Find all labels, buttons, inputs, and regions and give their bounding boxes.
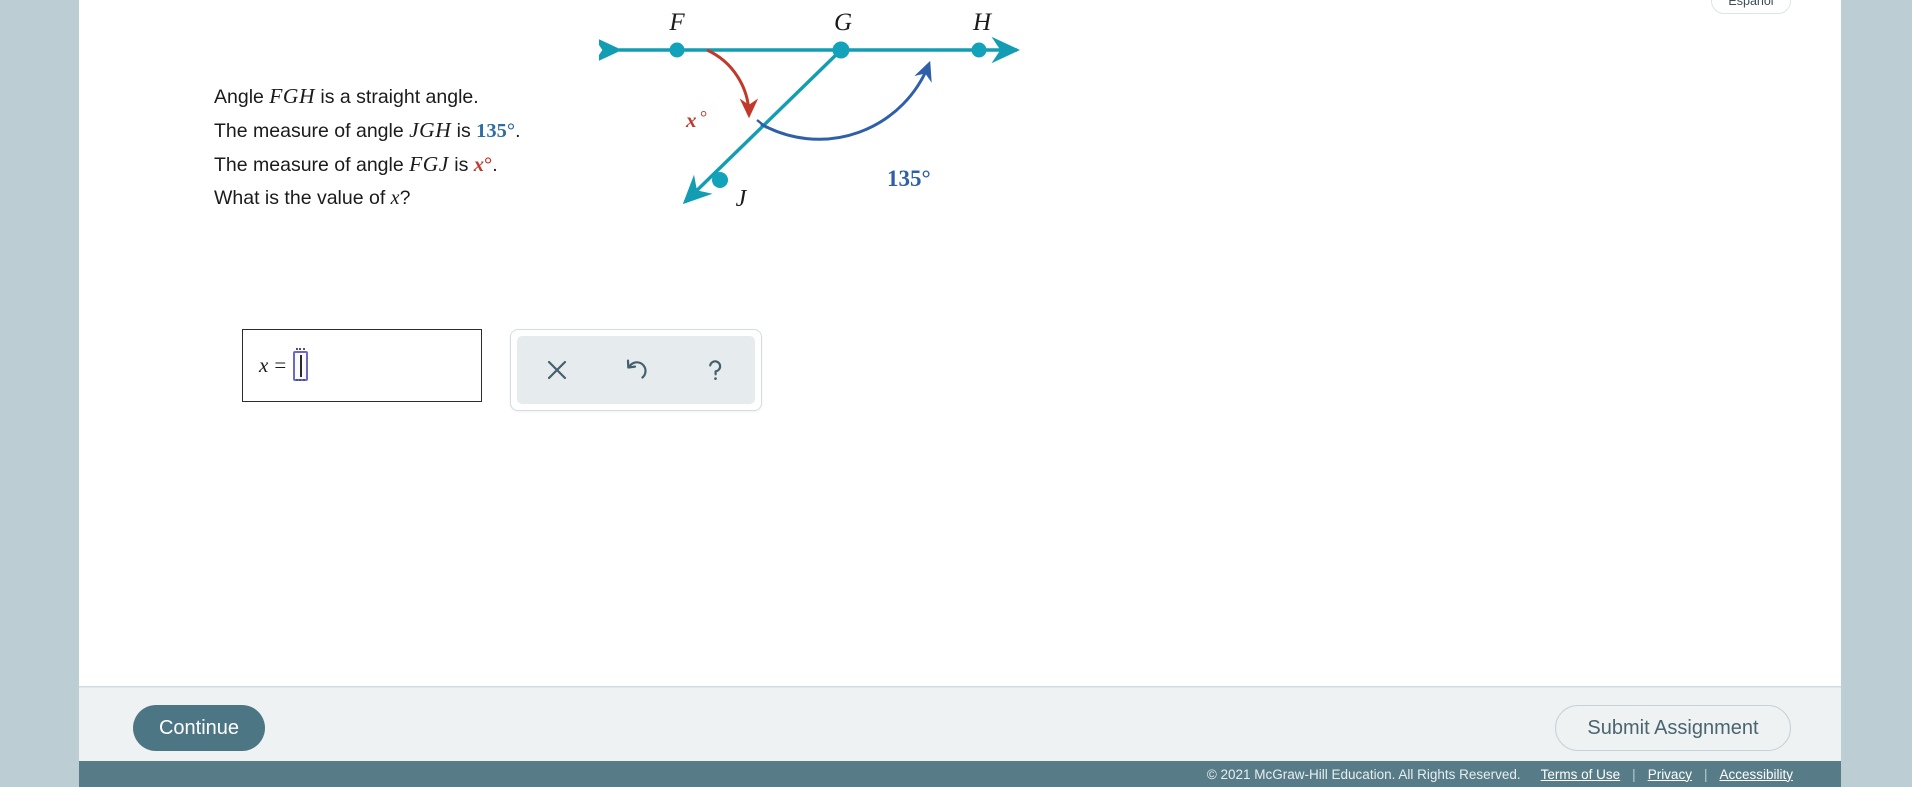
point-h <box>972 43 987 58</box>
figure-label-135: 135° <box>887 166 931 191</box>
line3-prefix: The measure of angle <box>214 154 409 176</box>
privacy-link[interactable]: Privacy <box>1648 767 1692 782</box>
figure-label-j: J <box>736 186 748 212</box>
line4-suffix: ? <box>400 187 411 209</box>
espanol-toggle-button[interactable]: Español <box>1711 0 1791 14</box>
measure-fgj-degree: ° <box>484 154 492 176</box>
measure-fgj-var: x <box>474 154 484 176</box>
answer-variable-label: x <box>259 353 268 378</box>
line4-prefix: What is the value of <box>214 187 391 209</box>
line1-suffix: is a straight angle. <box>315 86 479 108</box>
angle-arc-135 <box>757 64 929 139</box>
point-f <box>670 43 685 58</box>
footer-separator-2: | <box>1704 767 1708 782</box>
terms-of-use-link[interactable]: Terms of Use <box>1541 767 1621 782</box>
measure-jgh-value: 135° <box>476 120 515 142</box>
math-toolbar-inner <box>517 336 755 404</box>
help-button[interactable] <box>688 343 742 397</box>
angle-fgj-label: FGJ <box>409 152 449 176</box>
figure-label-x-var: x <box>685 108 697 132</box>
figure-label-f: F <box>668 9 685 36</box>
copyright-text: © 2021 McGraw-Hill Education. All Rights… <box>1207 767 1521 782</box>
figure-label-g: G <box>834 9 852 36</box>
figure-svg: F G H J x ° 135° <box>599 2 1069 232</box>
answer-input[interactable]: x = <box>242 329 482 402</box>
text-caret <box>300 355 302 377</box>
close-icon <box>543 356 571 384</box>
figure-label-x-degrees: x ° <box>685 107 707 132</box>
math-entry-slot[interactable] <box>293 351 308 381</box>
point-j <box>712 172 728 188</box>
answer-area: x = <box>242 329 762 411</box>
accessibility-link[interactable]: Accessibility <box>1719 767 1793 782</box>
math-toolbar <box>510 329 762 411</box>
submit-assignment-button[interactable]: Submit Assignment <box>1555 705 1791 751</box>
answer-equals-sign: = <box>274 353 286 378</box>
submit-label: Submit Assignment <box>1587 717 1758 740</box>
clear-button[interactable] <box>530 343 584 397</box>
angle-fgh-label: FGH <box>269 84 315 108</box>
undo-button[interactable] <box>609 343 663 397</box>
line3-suffix: . <box>492 154 497 176</box>
figure-label-x-degree-sign: ° <box>700 107 707 127</box>
line2-prefix: The measure of angle <box>214 120 409 142</box>
continue-label: Continue <box>159 717 239 740</box>
figure-label-h: H <box>972 9 993 36</box>
question-card: Español Angle FGH is a straight angle. T… <box>79 0 1841 687</box>
footer-separator-1: | <box>1632 767 1636 782</box>
point-g <box>833 42 850 59</box>
page-root: Español Angle FGH is a straight angle. T… <box>0 0 1912 787</box>
angle-jgh-label: JGH <box>409 118 451 142</box>
line1-prefix: Angle <box>214 86 269 108</box>
line2-suffix: . <box>515 120 520 142</box>
question-variable: x <box>391 187 400 209</box>
page-footer: © 2021 McGraw-Hill Education. All Rights… <box>79 761 1841 787</box>
action-bar: Continue Submit Assignment <box>79 687 1841 761</box>
line2-mid: is <box>451 120 476 142</box>
geometry-figure: F G H J x ° 135° <box>599 2 1069 232</box>
measure-fgj-value: x° <box>474 154 492 176</box>
line3-mid: is <box>449 154 474 176</box>
undo-icon <box>622 356 650 384</box>
espanol-label: Español <box>1728 0 1773 8</box>
continue-button[interactable]: Continue <box>133 705 265 751</box>
help-icon <box>701 356 729 384</box>
angle-arc-x <box>707 50 749 115</box>
